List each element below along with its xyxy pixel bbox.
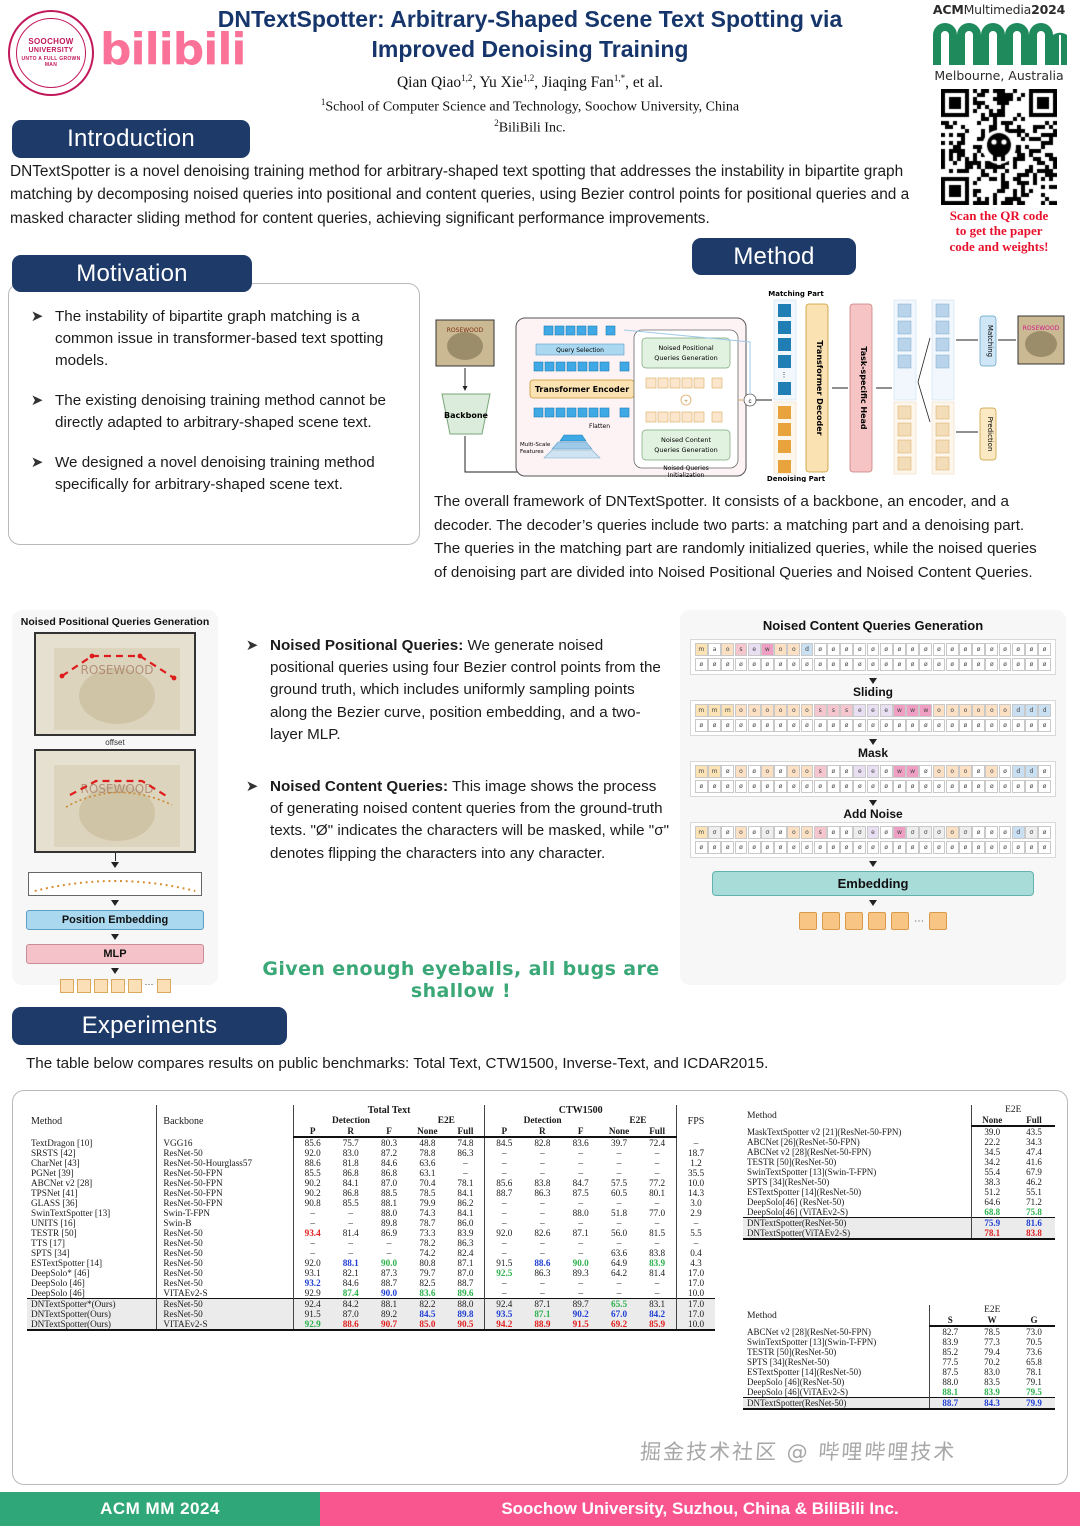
cell-value: – (523, 1208, 561, 1218)
cell-value: 90.5 (447, 1319, 485, 1330)
char-cell: ø (695, 719, 708, 732)
char-cell: ø (801, 841, 814, 854)
table-row: DeepSolo[46] (ResNet-50)64.671.2 (743, 1197, 1055, 1207)
cell-value: 82.5 (408, 1278, 446, 1288)
char-cell: o (774, 643, 787, 656)
cell-value: 79.9 (408, 1198, 446, 1208)
char-cell: ø (721, 841, 734, 854)
cell-value: – (523, 1198, 561, 1208)
section-header-method: Method (692, 238, 856, 275)
char-cell: ø (1025, 841, 1038, 854)
cell-backbone: ResNet-50-FPN (157, 1198, 293, 1208)
char-cell: s (840, 704, 853, 717)
char-cell: m (695, 643, 708, 656)
cell-value: 5.5 (677, 1228, 715, 1238)
cell-value: 89.3 (562, 1268, 600, 1278)
cell-value: 87.4 (332, 1288, 370, 1299)
label-matching-part: Matching Part (768, 290, 824, 298)
motivation-bullet-1: The existing denoising training method c… (55, 390, 405, 434)
table-head: Method Backbone Total Text CTW1500 FPS D… (27, 1103, 715, 1137)
cell-value: 78.1 (447, 1178, 485, 1188)
cell-value: 88.6 (332, 1319, 370, 1330)
cell-value: – (600, 1218, 638, 1228)
table-row: ESTextSpotter [14](ResNet-50)87.583.078.… (743, 1367, 1055, 1377)
cell-backbone: ResNet-50-Hourglass57 (157, 1158, 293, 1168)
ncq-strip-mask: mmøoøoøoosøøeeøwwøoooøoøddø øøøøøøøøøøøø… (690, 761, 1056, 797)
table-row: DeepSolo* [46]ResNet-5093.182.187.379.78… (27, 1268, 715, 1278)
cell-value: – (600, 1278, 638, 1288)
bezier-sample-box (28, 872, 202, 896)
cell-value: 90.7 (370, 1319, 408, 1330)
ncq-row-padding: øøøøøøøøøøøøøøøøøøøøøøøøøøø (695, 719, 1051, 732)
char-cell: ø (999, 780, 1012, 793)
cell-value: 92.0 (485, 1228, 523, 1238)
char-cell: s (814, 826, 827, 839)
cell-value: 77.2 (638, 1178, 676, 1188)
cell-value: – (523, 1218, 561, 1228)
cell-value: – (447, 1158, 485, 1168)
char-cell: ø (867, 719, 880, 732)
arrow-down-icon (111, 862, 119, 868)
char-cell: ø (906, 658, 919, 671)
cell-value: 1.2 (677, 1158, 715, 1168)
cell-value: 92.0 (293, 1148, 331, 1158)
ncq-figure-panel: Noised Content Queries Generation maosew… (680, 610, 1066, 985)
char-cell: w (893, 704, 906, 717)
table-row: ABCNet v2 [28](ResNet-50-FPN)34.547.4 (743, 1147, 1055, 1157)
cell-value: 10.0 (677, 1178, 715, 1188)
char-cell: e (867, 826, 880, 839)
list-item: ➤ The instability of bipartite graph mat… (19, 306, 405, 372)
cell-value: 57.5 (600, 1178, 638, 1188)
cell-value: 39.0 (971, 1126, 1013, 1137)
mid-bullet-list: ➤ Noised Positional Queries: We generate… (234, 635, 670, 895)
cell-value: – (523, 1238, 561, 1248)
col-backbone: Backbone (157, 1105, 293, 1137)
cell-value: 74.3 (408, 1208, 446, 1218)
token (157, 979, 171, 993)
char-cell: ø (1038, 765, 1051, 778)
char-cell: ø (919, 643, 932, 656)
cell-value: 55.1 (1013, 1187, 1055, 1197)
cell-value: 68.8 (971, 1207, 1013, 1218)
char-cell: ø (774, 719, 787, 732)
table-row: SPTS [34](ResNet-50)77.570.265.8 (743, 1357, 1055, 1367)
char-cell: o (959, 765, 972, 778)
cell-value: – (523, 1168, 561, 1178)
cell-method: DeepSolo [46](ViTAEv2-S) (743, 1387, 929, 1398)
watermark: 掘金技术社区 @ 哔哩哔哩技术 (639, 1436, 1061, 1470)
cell-value: 78.5 (408, 1188, 446, 1198)
char-cell: m (695, 704, 708, 717)
table-row: SRSTS [42]ResNet-5092.083.087.278.886.3–… (27, 1148, 715, 1158)
method-caption: The overall framework of DNTextSpotter. … (434, 490, 1052, 584)
qr-caption-line-2: to get the paper (924, 223, 1074, 238)
cell-value: 3.0 (677, 1198, 715, 1208)
char-cell: ø (827, 658, 840, 671)
cell-method: SPTS [34](ResNet-50) (743, 1177, 971, 1187)
cell-value: 87.0 (332, 1309, 370, 1319)
char-cell: ø (1025, 658, 1038, 671)
cell-value: 90.0 (370, 1288, 408, 1299)
arrow-down-icon (869, 800, 877, 806)
char-cell: ø (919, 841, 932, 854)
cell-value: – (600, 1238, 638, 1248)
char-cell: o (972, 704, 985, 717)
char-cell: ø (840, 841, 853, 854)
cell-value: 88.0 (929, 1377, 971, 1387)
char-cell: ø (959, 643, 972, 656)
char-cell: ø (972, 658, 985, 671)
authors: Qian Qiao1,2, Yu Xie1,2, Jiaqing Fan1,*,… (185, 73, 875, 92)
char-cell: s (827, 704, 840, 717)
npq-bullet-lead: Noised Positional Queries: (270, 637, 463, 654)
cell-value: 35.5 (677, 1168, 715, 1178)
cell-value: 83.8 (523, 1178, 561, 1188)
cell-value: – (370, 1248, 408, 1258)
qr-code[interactable] (941, 89, 1057, 205)
cell-value: – (638, 1288, 676, 1299)
arrow-down-icon (111, 934, 119, 940)
char-cell: ø (748, 841, 761, 854)
ncq-row-padding: øøøøøøøøøøøøøøøøøøøøøøøøøøø (695, 658, 1051, 671)
char-cell: ø (721, 780, 734, 793)
cell-method: ABCNet v2 [28](ResNet-50-FPN) (743, 1326, 929, 1337)
char-cell: ø (748, 765, 761, 778)
token (929, 912, 947, 930)
cell-value: 10.0 (677, 1288, 715, 1299)
svg-text:Features: Features (520, 449, 544, 455)
table-row: DeepSolo [46]VITAEv2-S92.987.490.083.689… (27, 1288, 715, 1299)
cell-value: 78.5 (971, 1326, 1013, 1337)
cell-value: – (600, 1288, 638, 1299)
char-cell: ø (801, 780, 814, 793)
table-row: TESTR [50]ResNet-5093.481.486.973.383.99… (27, 1228, 715, 1238)
cell-value: 85.6 (293, 1137, 331, 1148)
group-ctw1500: CTW1500 (485, 1105, 677, 1116)
label-query-selection: Query Selection (556, 347, 604, 354)
footer-affiliation: Soochow University, Suzhou, China & Bili… (320, 1492, 1080, 1526)
cell-value: 83.5 (971, 1377, 1013, 1387)
cell-value: – (485, 1218, 523, 1228)
cell-value: 88.1 (370, 1198, 408, 1208)
char-cell: o (748, 704, 761, 717)
cell-value: – (293, 1238, 331, 1248)
char-cell: σ (1025, 826, 1038, 839)
cell-backbone: ResNet-50 (157, 1299, 293, 1310)
char-cell: ø (853, 780, 866, 793)
svg-text:Queries Generation: Queries Generation (654, 354, 717, 362)
char-cell: s (814, 765, 827, 778)
char-cell: ø (893, 643, 906, 656)
char-cell: ø (748, 826, 761, 839)
cell-value: 82.4 (447, 1248, 485, 1258)
char-cell: ø (1038, 841, 1051, 854)
cell-value: 71.2 (1013, 1197, 1055, 1207)
char-cell: d (1012, 765, 1025, 778)
table-row: TextDragon [10]VGG1685.675.780.348.874.8… (27, 1137, 715, 1148)
char-cell: ø (999, 841, 1012, 854)
poster-footer: ACM MM 2024 Soochow University, Suzhou, … (0, 1492, 1080, 1526)
char-cell: ø (959, 658, 972, 671)
qr-caption-line-3: code and weights! (924, 239, 1074, 254)
char-cell: ø (708, 780, 721, 793)
char-cell: ø (827, 826, 840, 839)
arrow-down-icon (869, 678, 877, 684)
cell-value: 81.8 (332, 1158, 370, 1168)
char-cell: ø (735, 780, 748, 793)
table-row: DeepSolo[46] (ViTAEv2-S)68.875.8 (743, 1207, 1055, 1218)
cell-value: – (638, 1148, 676, 1158)
cell-value: 89.8 (447, 1309, 485, 1319)
char-cell: ø (893, 780, 906, 793)
char-cell: e (880, 704, 893, 717)
col-method: Method (743, 1105, 971, 1126)
char-cell: ø (761, 780, 774, 793)
footer-conference: ACM MM 2024 (0, 1492, 320, 1526)
cell-backbone: ResNet-50 (157, 1309, 293, 1319)
cell-value: – (293, 1218, 331, 1228)
cell-value: 89.6 (447, 1288, 485, 1299)
char-cell: ø (708, 658, 721, 671)
svg-text:c: c (749, 399, 752, 405)
cell-value: 46.2 (1013, 1177, 1055, 1187)
cell-method: DeepSolo[46] (ResNet-50) (743, 1197, 971, 1207)
char-cell: o (761, 704, 774, 717)
list-item: ➤ Noised Positional Queries: We generate… (234, 635, 670, 746)
acm-mid: Multimedia (964, 2, 1032, 17)
char-cell: ø (946, 719, 959, 732)
table-row: ABCNet v2 [28](ResNet-50-FPN)82.778.573.… (743, 1326, 1055, 1337)
cell-value: 88.0 (562, 1208, 600, 1218)
svg-text:ROSEWOOD: ROSEWOOD (447, 327, 484, 334)
cell-value: 89.7 (562, 1299, 600, 1310)
col-f-ctw: F (562, 1126, 600, 1137)
token (128, 979, 142, 993)
char-cell: ø (919, 765, 932, 778)
cell-backbone: ResNet-50-FPN (157, 1168, 293, 1178)
char-cell: w (761, 643, 774, 656)
cell-value: 34.3 (1013, 1137, 1055, 1147)
char-cell: ø (774, 658, 787, 671)
char-cell: ø (761, 841, 774, 854)
col-p-tt: P (293, 1126, 331, 1137)
cell-value: 86.8 (370, 1168, 408, 1178)
table-row: GLASS [36]ResNet-50-FPN90.885.588.179.98… (27, 1198, 715, 1208)
cell-value: – (370, 1238, 408, 1248)
char-cell: ø (695, 658, 708, 671)
cell-value: – (293, 1208, 331, 1218)
cell-value: – (523, 1248, 561, 1258)
char-cell: ø (972, 719, 985, 732)
cell-value: 18.7 (677, 1148, 715, 1158)
section-header-experiments: Experiments (12, 1007, 287, 1045)
char-cell: ø (774, 765, 787, 778)
arrow-down-icon (869, 861, 877, 867)
cell-backbone: ResNet-50-FPN (157, 1178, 293, 1188)
ncq-strip-initial: maosewoodøøøøøøøøøøøøøøøøøø øøøøøøøøøøøø… (690, 639, 1056, 675)
cell-value: 41.6 (1013, 1157, 1055, 1167)
cell-value: 55.4 (971, 1167, 1013, 1177)
char-cell: ø (721, 826, 734, 839)
char-cell: ø (774, 780, 787, 793)
cell-value: 90.2 (293, 1178, 331, 1188)
char-cell: σ (906, 826, 919, 839)
cell-value: 92.4 (485, 1299, 523, 1310)
char-cell: ø (999, 765, 1012, 778)
poster-header: SOOCHOW UNIVERSITY UNTO A FULL GROWN MAN… (0, 0, 1080, 120)
cell-value: 86.3 (447, 1148, 485, 1158)
cell-value: 85.0 (408, 1319, 446, 1330)
inverse-text-results-table: Method E2E None Full MaskTextSpotter v2 … (743, 1103, 1055, 1240)
ncq-output-tokens: ⋯ (690, 912, 1056, 930)
cell-value: 75.7 (332, 1137, 370, 1148)
col-w: W (971, 1315, 1013, 1326)
table-row: DNTextSpotter(ViTAEv2-S)78.183.8 (743, 1228, 1055, 1239)
cell-value: 17.0 (677, 1309, 715, 1319)
cell-method: ESTextSpotter [14] (27, 1258, 157, 1268)
cell-method: DNTextSpotter(ResNet-50) (743, 1218, 971, 1229)
char-cell: ø (985, 658, 998, 671)
char-cell: s (735, 643, 748, 656)
cell-value: – (485, 1148, 523, 1158)
char-cell: ø (840, 658, 853, 671)
col-none-ctw: None (600, 1126, 638, 1137)
cell-value: 82.2 (408, 1299, 446, 1310)
cell-value: 74.2 (408, 1248, 446, 1258)
char-cell: ø (880, 765, 893, 778)
cell-value: 67.0 (600, 1309, 638, 1319)
cell-backbone: VITAEv2-S (157, 1288, 293, 1299)
cell-value: – (638, 1238, 676, 1248)
cell-value: 79.4 (971, 1347, 1013, 1357)
char-cell: ø (840, 780, 853, 793)
cell-value: 88.7 (370, 1278, 408, 1288)
cell-value: 83.9 (447, 1228, 485, 1238)
ncq-row-initial: maosewoodøøøøøøøøøøøøøøøøøø (695, 643, 1051, 656)
table-row: ABCNet [26](ResNet-50-FPN)22.234.3 (743, 1137, 1055, 1147)
cell-value: – (485, 1168, 523, 1178)
char-cell: ø (919, 780, 932, 793)
cell-value: 88.6 (293, 1158, 331, 1168)
char-cell: m (708, 765, 721, 778)
cell-value: 69.2 (600, 1319, 638, 1330)
char-cell: d (1012, 826, 1025, 839)
cell-value: 0.4 (677, 1248, 715, 1258)
char-cell: o (787, 704, 800, 717)
char-cell: ø (906, 643, 919, 656)
char-cell: ø (853, 841, 866, 854)
char-cell: ø (840, 826, 853, 839)
char-cell: w (893, 826, 906, 839)
table-row: SwinTextSpotter [13](Swin-T-FPN)55.467.9 (743, 1167, 1055, 1177)
icdar2015-results-table: Method E2E S W G ABCNet v2 [28](ResNet-5… (743, 1303, 1055, 1410)
cell-value: – (485, 1158, 523, 1168)
cell-value: 38.3 (971, 1177, 1013, 1187)
cell-value: 85.2 (929, 1347, 971, 1357)
table-row: DNTextSpotter(ResNet-50)88.784.379.9 (743, 1398, 1055, 1410)
cell-method: UNITS [16] (27, 1218, 157, 1228)
char-cell: w (919, 704, 932, 717)
cell-value: 63.6 (408, 1158, 446, 1168)
cell-value: 64.2 (600, 1268, 638, 1278)
col-none: None (971, 1115, 1013, 1126)
cell-value: – (447, 1168, 485, 1178)
cell-value: 93.4 (293, 1228, 331, 1238)
cell-value: 91.5 (293, 1309, 331, 1319)
table-body: ABCNet v2 [28](ResNet-50-FPN)82.778.573.… (743, 1326, 1055, 1409)
cell-method: TTS [17] (27, 1238, 157, 1248)
char-cell: ø (880, 719, 893, 732)
cell-value: – (523, 1148, 561, 1158)
token (94, 979, 108, 993)
cell-value: 92.9 (293, 1288, 331, 1299)
npq-figure-panel: Noised Positional Queries Generation ROS… (12, 610, 218, 985)
seal-line-2: UNIVERSITY (28, 47, 73, 56)
acm-prefix: ACM (933, 2, 964, 17)
char-cell: ø (933, 643, 946, 656)
sub-detection-tt: Detection (293, 1116, 408, 1126)
char-cell: ø (853, 719, 866, 732)
col-full-ctw: Full (638, 1126, 676, 1137)
seal-line-3: UNTO A FULL GROWN MAN (17, 56, 85, 69)
char-cell: ø (695, 841, 708, 854)
char-cell: ø (946, 643, 959, 656)
svg-text:ROSEWOOD: ROSEWOOD (81, 663, 154, 677)
section-header-motivation: Motivation (12, 255, 252, 292)
cell-value: 87.1 (523, 1309, 561, 1319)
char-cell: σ (919, 826, 932, 839)
cell-value: 64.6 (971, 1197, 1013, 1207)
col-f-tt: F (370, 1126, 408, 1137)
cell-value: 82.8 (523, 1137, 561, 1148)
group-e2e: E2E (929, 1305, 1055, 1315)
char-cell: ø (814, 719, 827, 732)
char-cell: d (1025, 765, 1038, 778)
char-cell: ø (985, 826, 998, 839)
char-cell: e (853, 704, 866, 717)
table-row: DNTextSpotter(ResNet-50)75.981.6 (743, 1218, 1055, 1229)
char-cell: ø (880, 780, 893, 793)
cell-method: TESTR [50](ResNet-50) (743, 1347, 929, 1357)
char-cell: e (867, 765, 880, 778)
cell-value: 84.2 (638, 1309, 676, 1319)
list-item: ➤ We designed a novel denoising training… (19, 452, 405, 496)
arrow-down-icon (869, 739, 877, 745)
char-cell: ø (721, 765, 734, 778)
char-cell: o (801, 826, 814, 839)
list-item: ➤ Noised Content Queries: This image sho… (234, 776, 670, 865)
char-cell: ø (867, 841, 880, 854)
cell-value: 64.9 (600, 1258, 638, 1268)
char-cell: ø (748, 719, 761, 732)
ncq-row-padding: øøøøøøøøøøøøøøøøøøøøøøøøøøø (695, 841, 1051, 854)
cell-value: 84.2 (332, 1299, 370, 1310)
cell-value: 86.0 (447, 1218, 485, 1228)
char-cell: ø (919, 658, 932, 671)
char-cell: ø (801, 658, 814, 671)
char-cell: ø (893, 658, 906, 671)
cell-method: DNTextSpotter(Ours) (27, 1309, 157, 1319)
ncq-step-add-noise: Add Noise (690, 807, 1056, 821)
cell-value: – (677, 1218, 715, 1228)
char-cell: ø (893, 719, 906, 732)
cell-value: 51.2 (971, 1187, 1013, 1197)
cell-value: 17.0 (677, 1299, 715, 1310)
cell-value: – (600, 1158, 638, 1168)
char-cell: ø (880, 658, 893, 671)
affiliation-2: 2BiliBili Inc. (185, 117, 875, 139)
